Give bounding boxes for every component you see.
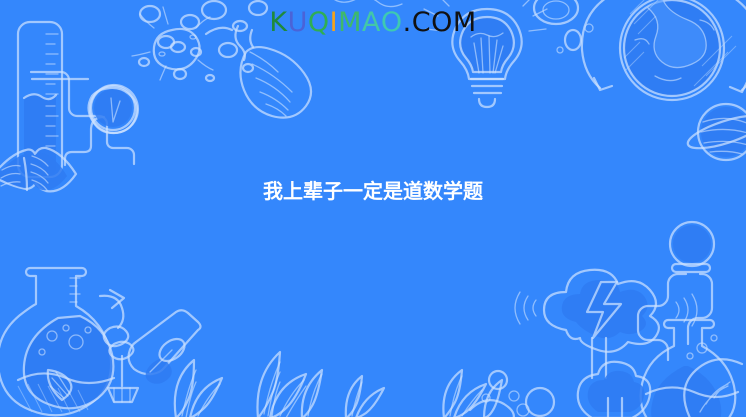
watermark-char-5: A [362, 9, 381, 36]
main-headline: 我上辈子一定是道数学题 [0, 152, 746, 230]
watermark-char-1: U [288, 9, 308, 36]
watermark-char-0: K [269, 9, 287, 36]
watermark-char-8: C [412, 9, 431, 36]
grass-doodle [48, 352, 502, 417]
leaf-doodle [235, 26, 311, 118]
watermark-char-9: O [431, 9, 453, 36]
bubbles-doodle [330, 0, 402, 7]
watermark-char-3: I [330, 9, 338, 36]
banner-canvas: .ln { fill:none; stroke:#cde2ff; stroke-… [0, 0, 746, 417]
distillation-doodle [638, 222, 738, 417]
watermark-char-10: M [453, 9, 477, 36]
watermark-char-4: M [338, 9, 362, 36]
watermark-char-2: Q [308, 9, 330, 36]
watermark-char-6: O [381, 9, 403, 36]
watermark-char-7: . [403, 9, 412, 36]
fountain-pen-doodle [129, 310, 201, 384]
tree-doodle [578, 362, 650, 417]
cloud-lightning-doodle [515, 270, 697, 378]
flask-burner-doodle [0, 268, 138, 415]
bubbles-doodle [470, 371, 554, 417]
umbrella-doodle [684, 359, 742, 417]
kuqimao-watermark: KUQIMAO.COM [0, 9, 746, 36]
